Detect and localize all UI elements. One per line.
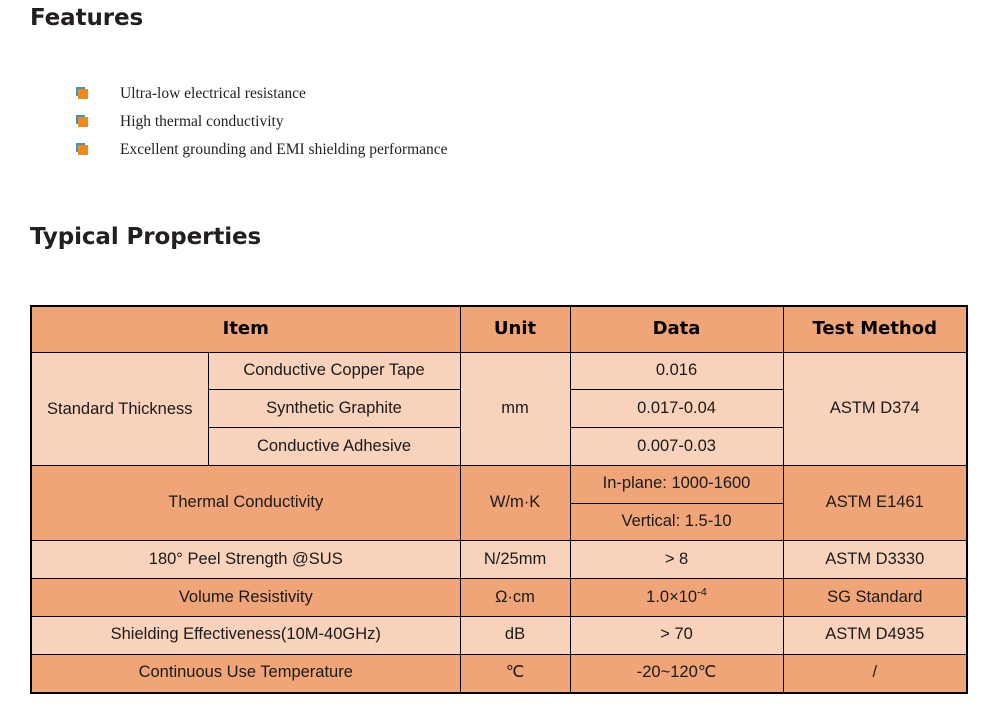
features-heading: Features [30,5,143,31]
typical-properties-table: Item Unit Data Test Method Standard Thic… [30,305,968,694]
data-shielding-effectiveness: > 70 [570,616,783,654]
feature-text: Excellent grounding and EMI shielding pe… [120,142,448,158]
row-label-peel-strength: 180° Peel Strength @SUS [31,541,460,579]
bullet-square-icon [78,89,88,99]
list-item: Ultra-low electrical resistance [30,80,730,108]
orange-square-bullet-icon [76,143,90,157]
table-row: Standard Thickness Conductive Copper Tap… [31,352,967,390]
column-header-item: Item [31,306,460,352]
data-continuous-use-temperature: -20~120℃ [570,654,783,693]
document-page: Features Ultra-low electrical resistance… [0,0,990,720]
unit-volume-resistivity: Ω·cm [460,579,570,617]
data-peel-strength: > 8 [570,541,783,579]
data-thermal-conductivity-vertical: Vertical: 1.5-10 [570,503,783,541]
table-row: Shielding Effectiveness(10M-40GHz) dB > … [31,616,967,654]
data-volume-resistivity-exponent: -4 [697,586,707,598]
method-peel-strength: ASTM D3330 [783,541,967,579]
unit-thermal-conductivity: W/m·K [460,465,570,541]
method-thermal-conductivity: ASTM E1461 [783,465,967,541]
data-conductive-copper-tape: 0.016 [570,352,783,390]
data-thermal-conductivity-in-plane: In-plane: 1000-1600 [570,465,783,503]
table-row: 180° Peel Strength @SUS N/25mm > 8 ASTM … [31,541,967,579]
bullet-square-icon [78,145,88,155]
orange-square-bullet-icon [76,115,90,129]
bullet-square-icon [78,117,88,127]
row-label-text: Standard Thickness [47,400,193,418]
typical-properties-table-wrapper: Item Unit Data Test Method Standard Thic… [30,305,966,694]
data-volume-resistivity: 1.0×10-4 [570,579,783,617]
method-shielding-effectiveness: ASTM D4935 [783,616,967,654]
data-volume-resistivity-base: 1.0×10 [646,588,697,606]
unit-continuous-use-temperature: ℃ [460,654,570,693]
row-label-shielding-effectiveness: Shielding Effectiveness(10M-40GHz) [31,616,460,654]
list-item: High thermal conductivity [30,108,730,136]
table-row: Thermal Conductivity W/m·K In-plane: 100… [31,465,967,503]
method-continuous-use-temperature: / [783,654,967,693]
list-item: Excellent grounding and EMI shielding pe… [30,136,730,164]
data-synthetic-graphite: 0.017-0.04 [570,390,783,428]
feature-text: High thermal conductivity [120,114,284,130]
table-row: Continuous Use Temperature ℃ -20~120℃ / [31,654,967,693]
column-header-unit: Unit [460,306,570,352]
row-label-thermal-conductivity: Thermal Conductivity [31,465,460,541]
sub-label-conductive-copper-tape: Conductive Copper Tape [208,352,460,390]
method-volume-resistivity: SG Standard [783,579,967,617]
unit-peel-strength: N/25mm [460,541,570,579]
unit-standard-thickness: mm [460,352,570,465]
typical-properties-heading: Typical Properties [30,224,261,250]
table-header-row: Item Unit Data Test Method [31,306,967,352]
row-label-volume-resistivity: Volume Resistivity [31,579,460,617]
orange-square-bullet-icon [76,87,90,101]
feature-text: Ultra-low electrical resistance [120,86,306,102]
sub-label-synthetic-graphite: Synthetic Graphite [208,390,460,428]
unit-shielding-effectiveness: dB [460,616,570,654]
row-label-standard-thickness: Standard Thickness [31,352,208,465]
method-standard-thickness: ASTM D374 [783,352,967,465]
features-list: Ultra-low electrical resistance High the… [30,80,730,164]
sub-label-conductive-adhesive: Conductive Adhesive [208,428,460,466]
row-label-continuous-use-temperature: Continuous Use Temperature [31,654,460,693]
data-conductive-adhesive: 0.007-0.03 [570,428,783,466]
table-row: Volume Resistivity Ω·cm 1.0×10-4 SG Stan… [31,579,967,617]
column-header-data: Data [570,306,783,352]
column-header-test-method: Test Method [783,306,967,352]
